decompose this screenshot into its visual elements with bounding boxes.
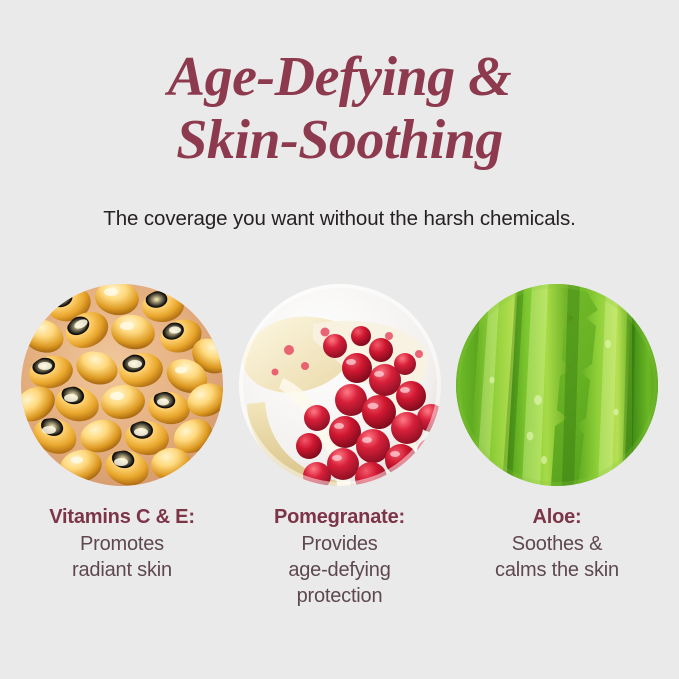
ingredient-caption-vitamins: Vitamins C & E: Promotes radiant skin <box>49 504 195 583</box>
page-title: Age-Defying & Skin-Soothing <box>0 46 679 172</box>
promo-panel: Age-Defying & Skin-Soothing The coverage… <box>0 0 679 679</box>
ingredient-column-aloe: Aloe: Soothes & calms the skin <box>456 284 658 609</box>
aloe-vera-leaves-photo <box>456 284 658 486</box>
ingredient-body-line: protection <box>274 583 405 609</box>
ingredient-caption-aloe: Aloe: Soothes & calms the skin <box>495 504 619 583</box>
ingredient-title: Aloe: <box>495 504 619 530</box>
ingredient-title: Vitamins C & E: <box>49 504 195 530</box>
ingredient-column-pomegranate: Pomegranate: Provides age-defying protec… <box>239 284 441 609</box>
ingredient-body-line: Soothes & <box>495 531 619 557</box>
ingredient-body-line: radiant skin <box>49 557 195 583</box>
headline-line-1: Age-Defying & <box>0 46 679 109</box>
ingredient-columns: Vitamins C & E: Promotes radiant skin <box>0 284 679 609</box>
pomegranate-fruit-photo <box>239 284 441 486</box>
ingredient-body: Soothes & calms the skin <box>495 531 619 583</box>
ingredient-body-line: Promotes <box>49 531 195 557</box>
vitamin-softgel-capsules-photo <box>21 284 223 486</box>
subtitle: The coverage you want without the harsh … <box>0 207 679 231</box>
ingredient-body-line: age-defying <box>274 557 405 583</box>
ingredient-body: Provides age-defying protection <box>274 531 405 609</box>
ingredient-column-vitamins: Vitamins C & E: Promotes radiant skin <box>21 284 223 609</box>
headline-line-2: Skin-Soothing <box>0 109 679 172</box>
ingredient-body-line: calms the skin <box>495 557 619 583</box>
ingredient-title: Pomegranate: <box>274 504 405 530</box>
ingredient-body: Promotes radiant skin <box>49 531 195 583</box>
ingredient-caption-pomegranate: Pomegranate: Provides age-defying protec… <box>274 504 405 609</box>
ingredient-body-line: Provides <box>274 531 405 557</box>
